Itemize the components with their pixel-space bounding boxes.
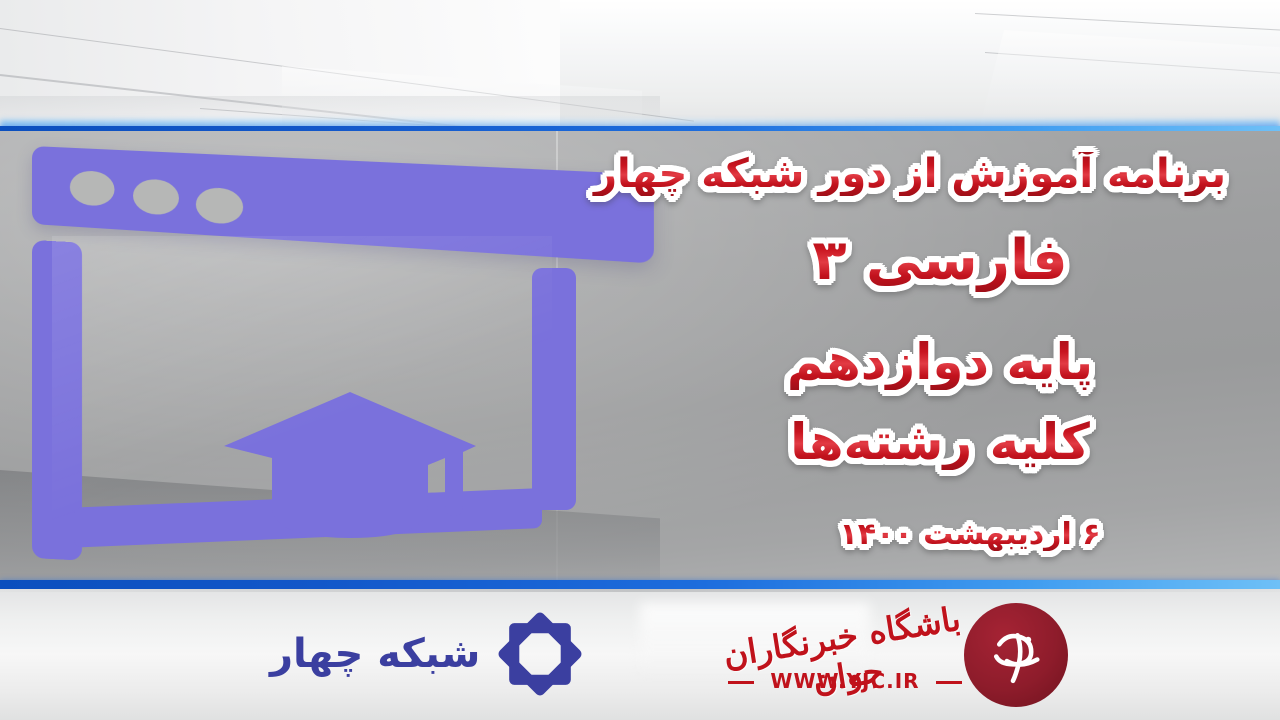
program-title: برنامه آموزش از دور شبکه چهار bbox=[560, 152, 1260, 196]
browser-dot-icon bbox=[196, 187, 243, 225]
agency-name: باشگاه خبرنگاران جوان bbox=[715, 598, 974, 714]
eight-point-star-icon bbox=[494, 608, 586, 700]
subject-title: فارسی ۳ bbox=[620, 230, 1260, 292]
logo-bar-edge bbox=[0, 589, 1280, 592]
browser-frame-right bbox=[532, 268, 576, 510]
accent-bar-bottom bbox=[0, 580, 1280, 589]
agency-logo-text: باشگاه خبرنگاران جوان WWW.YJC.IR bbox=[720, 607, 970, 703]
yjc-emblem-icon bbox=[964, 603, 1068, 707]
network-logo-label: شبکه چهار bbox=[270, 631, 480, 677]
browser-dot-icon bbox=[70, 170, 115, 207]
broadcast-date: ۶ اردیبهشت ۱۴۰۰ bbox=[680, 518, 1260, 551]
grade-level: پایه دوازدهم bbox=[620, 335, 1260, 390]
study-field: کلیه رشته‌ها bbox=[620, 415, 1260, 470]
broadcast-slate: برنامه آموزش از دور شبکه چهار فارسی ۳ پا… bbox=[0, 0, 1280, 720]
graduation-cap-icon bbox=[220, 388, 480, 548]
logo-bar bbox=[0, 589, 1280, 720]
browser-dot-icon bbox=[133, 178, 179, 216]
agency-website: WWW.YJC.IR bbox=[734, 669, 956, 693]
agency-logo: باشگاه خبرنگاران جوان WWW.YJC.IR bbox=[720, 600, 1068, 710]
browser-window-graduation-cap-icon bbox=[24, 140, 604, 570]
network-logo: شبکه چهار bbox=[270, 604, 586, 704]
